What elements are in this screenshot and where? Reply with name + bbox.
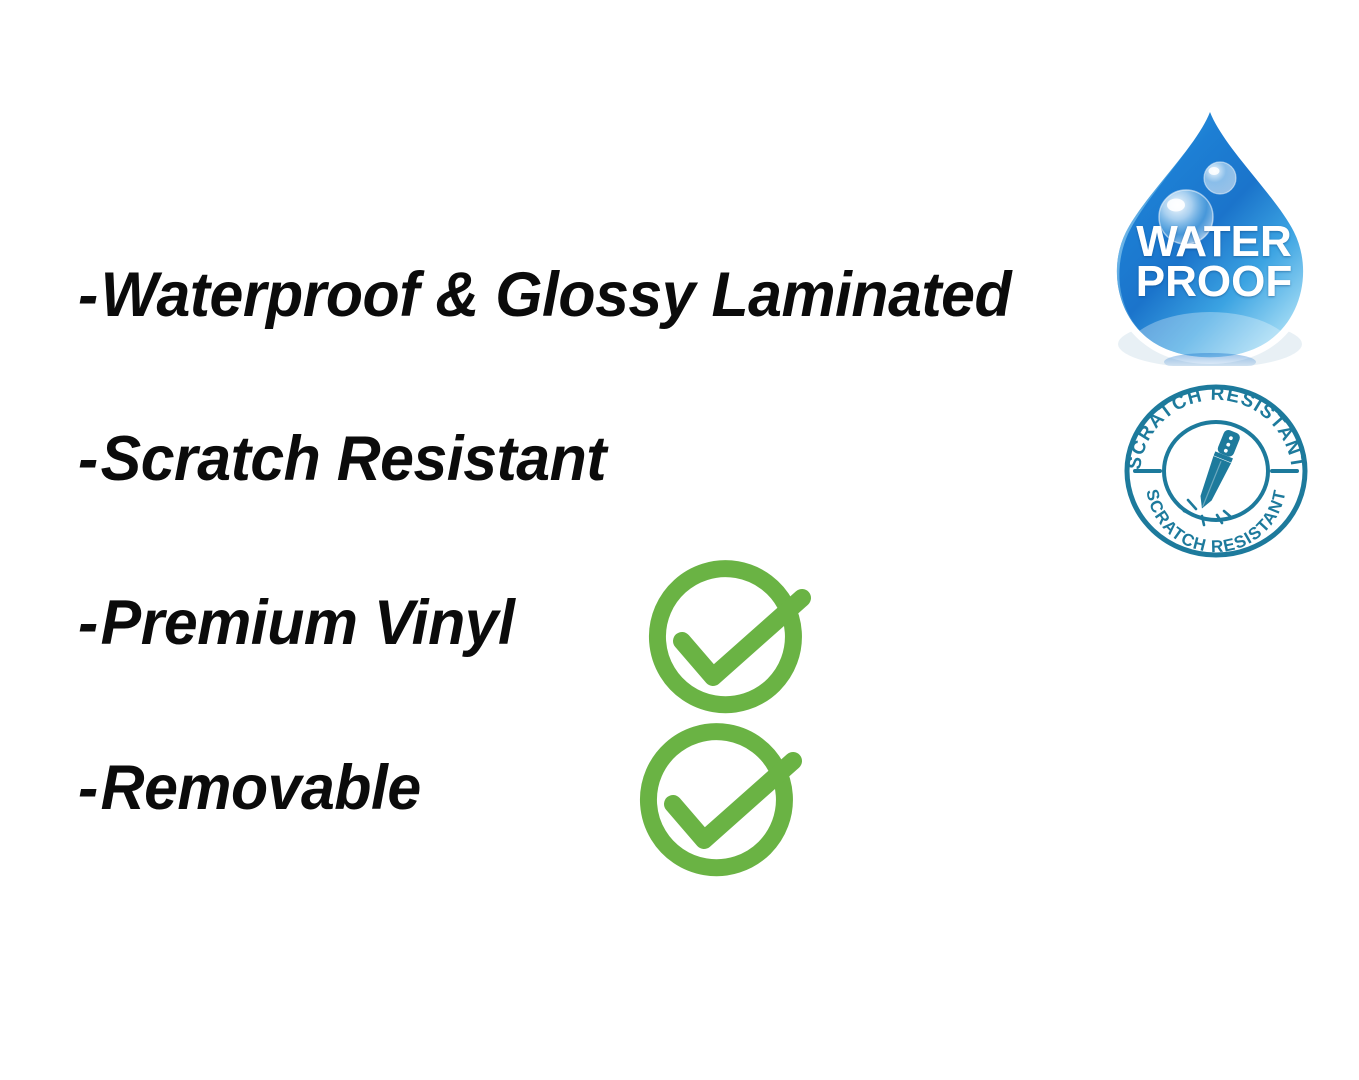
feature-item-premium-vinyl: -Premium Vinyl	[78, 592, 514, 655]
knife-icon	[1194, 428, 1243, 512]
bullet-dash-3: -	[78, 757, 98, 820]
check-circle-ring	[640, 555, 811, 722]
feature-item-removable: -Removable	[78, 757, 421, 820]
check-circle-icon	[630, 718, 810, 898]
feature-list-graphic: -Waterproof & Glossy Laminated -Scratch …	[0, 0, 1359, 1080]
check-circle-icon	[639, 555, 819, 735]
feature-label-1: Scratch Resistant	[101, 424, 606, 494]
feature-label-3: Removable	[101, 753, 421, 823]
feature-label-0: Waterproof & Glossy Laminated	[101, 260, 1011, 330]
feature-item-scratch-resistant: -Scratch Resistant	[78, 428, 606, 491]
waterproof-badge: WATER PROOF	[1098, 104, 1330, 366]
check-circle-ring	[631, 718, 802, 885]
bubble-small-icon	[1204, 162, 1236, 194]
bullet-dash-2: -	[78, 592, 98, 655]
bullet-dash-0: -	[78, 264, 98, 327]
bullet-dash-1: -	[78, 428, 98, 491]
feature-item-waterproof: -Waterproof & Glossy Laminated	[78, 264, 1011, 327]
feature-label-2: Premium Vinyl	[101, 588, 515, 658]
scratch-resistant-badge: SCRATCH RESISTANT SCRATCH RESISTANT	[1118, 382, 1314, 560]
bubble-large-icon	[1159, 190, 1213, 244]
